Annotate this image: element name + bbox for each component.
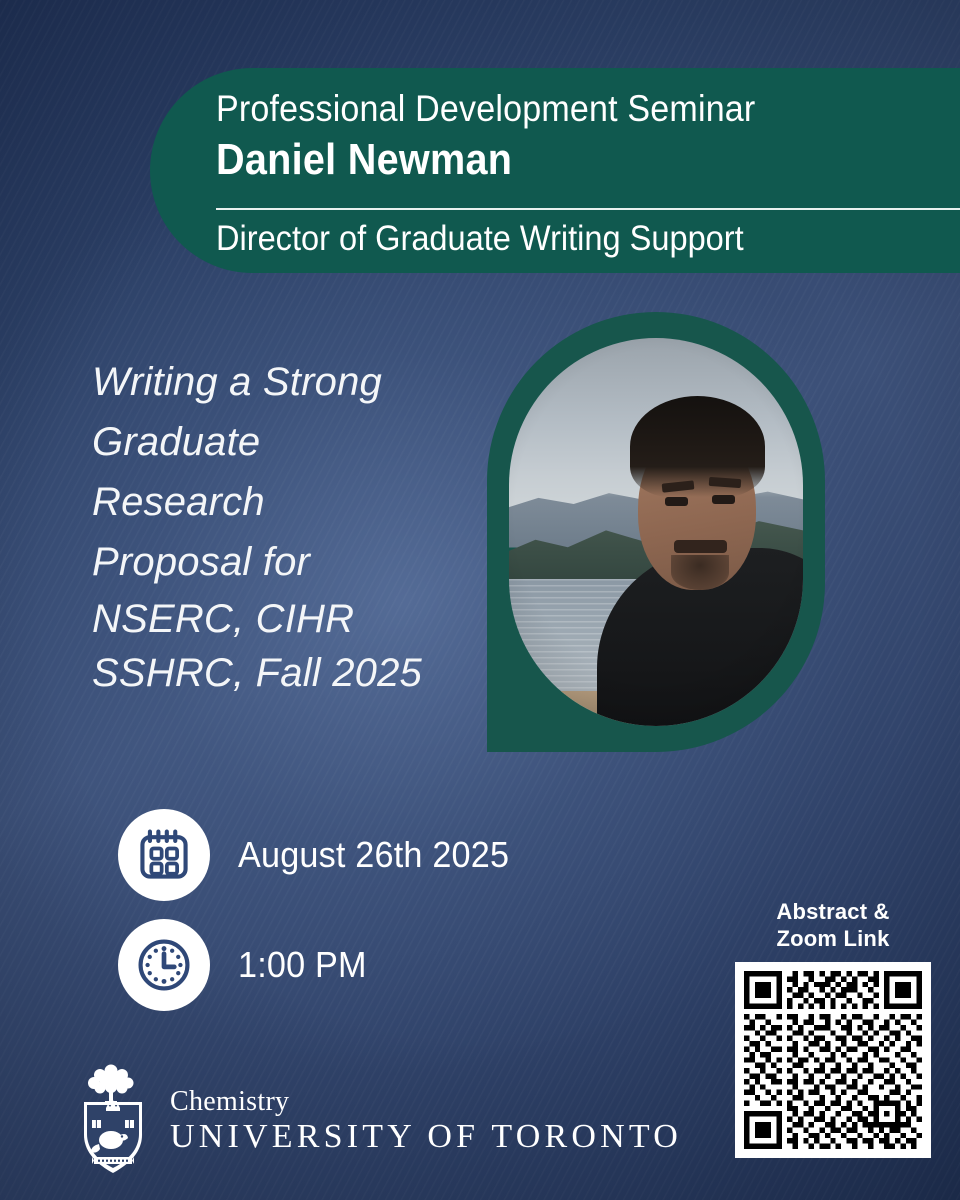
speaker-name: Daniel Newman xyxy=(216,134,886,186)
talk-title-line: Graduate xyxy=(92,412,472,472)
talk-title-line: NSERC, CIHR xyxy=(92,592,472,646)
seminar-poster: Professional Development Seminar Daniel … xyxy=(0,0,960,1200)
photo-far-mountains xyxy=(509,470,803,548)
seminar-kicker: Professional Development Seminar xyxy=(216,86,900,132)
speaker-portrait xyxy=(487,312,825,752)
talk-title-line: Research xyxy=(92,472,472,532)
portrait-photo xyxy=(509,338,803,726)
uoft-crest-icon xyxy=(70,1062,156,1182)
qr-code-icon[interactable] xyxy=(735,962,931,1158)
talk-title-line: Writing a Strong xyxy=(92,352,472,412)
logo-department: Chemistry xyxy=(170,1087,682,1117)
qr-label-line1: Abstract & xyxy=(735,898,931,925)
photo-figure-brow-right xyxy=(709,477,742,488)
event-time: 1:00 PM xyxy=(238,944,367,986)
calendar-icon xyxy=(118,809,210,901)
event-date: August 26th 2025 xyxy=(238,834,509,876)
photo-figure-eye-left xyxy=(665,497,689,506)
photo-shoreline xyxy=(509,691,632,726)
uoft-logo-text: Chemistry UNIVERSITY OF TORONTO xyxy=(170,1087,682,1157)
photo-figure-eye-right xyxy=(712,495,736,504)
qr-label-line2: Zoom Link xyxy=(735,925,931,952)
photo-figure-beard xyxy=(671,555,730,590)
photo-figure-head xyxy=(638,427,756,590)
event-details: August 26th 2025 1:00 PM xyxy=(118,806,523,1014)
photo-figure-brow-left xyxy=(662,480,695,492)
event-date-row: August 26th 2025 xyxy=(118,806,523,904)
talk-title-line: SSHRC, Fall 2025 xyxy=(92,646,472,700)
photo-forested-hill xyxy=(509,493,803,586)
photo-lake xyxy=(509,579,803,726)
logo-university: UNIVERSITY OF TORONTO xyxy=(170,1117,682,1157)
photo-figure-torso xyxy=(597,548,803,726)
uoft-logo: Chemistry UNIVERSITY OF TORONTO xyxy=(70,1062,682,1182)
clock-icon xyxy=(118,919,210,1011)
photo-figure-neck xyxy=(662,517,721,571)
photo-sky xyxy=(509,338,803,516)
photo-figure-moustache xyxy=(674,540,727,553)
talk-title-line: Proposal for xyxy=(92,532,472,592)
photo-figure-hair xyxy=(630,396,765,497)
qr-section[interactable]: Abstract & Zoom Link xyxy=(735,898,931,1158)
header-divider xyxy=(216,208,960,210)
speaker-role: Director of Graduate Writing Support xyxy=(216,216,744,262)
header-banner-text: Professional Development Seminar Daniel … xyxy=(216,86,960,186)
talk-title: Writing a Strong Graduate Research Propo… xyxy=(92,352,472,700)
event-time-row: 1:00 PM xyxy=(118,916,523,1014)
